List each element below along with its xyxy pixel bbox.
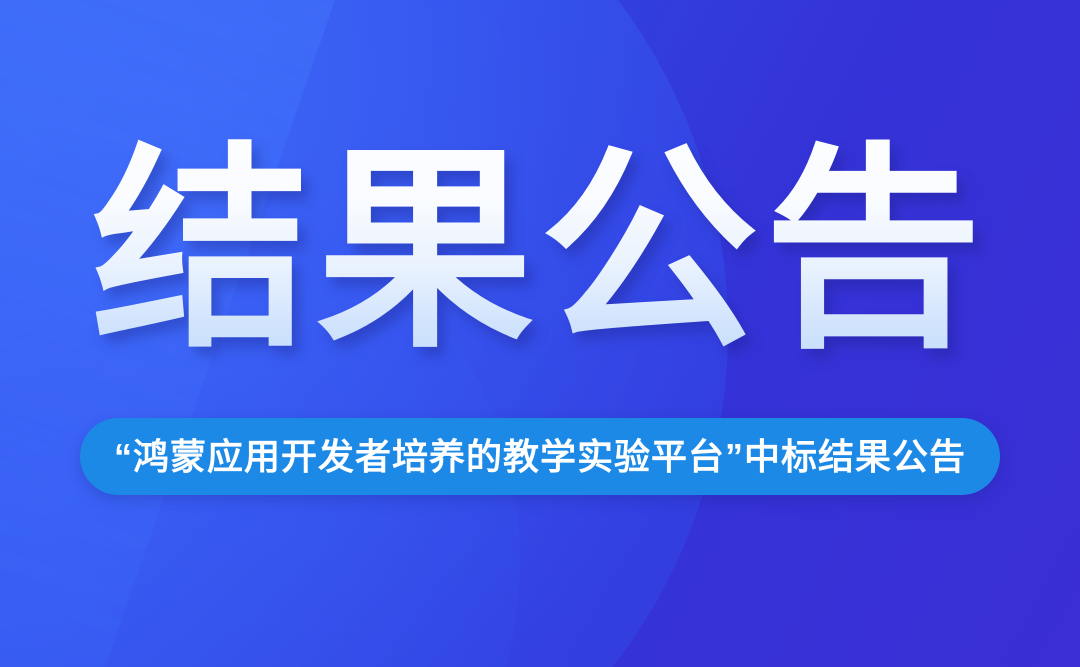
subtitle-label: “鸿蒙应用开发者培养的教学实验平台”中标结果公告 (114, 439, 966, 475)
announcement-banner: 结果公告 “鸿蒙应用开发者培养的教学实验平台”中标结果公告 (0, 0, 1080, 667)
subtitle-pill: “鸿蒙应用开发者培养的教学实验平台”中标结果公告 (80, 418, 1000, 495)
banner-content: 结果公告 “鸿蒙应用开发者培养的教学实验平台”中标结果公告 (0, 0, 1080, 667)
subtitle-container: “鸿蒙应用开发者培养的教学实验平台”中标结果公告 (0, 418, 1080, 495)
page-title: 结果公告 (0, 136, 1080, 368)
